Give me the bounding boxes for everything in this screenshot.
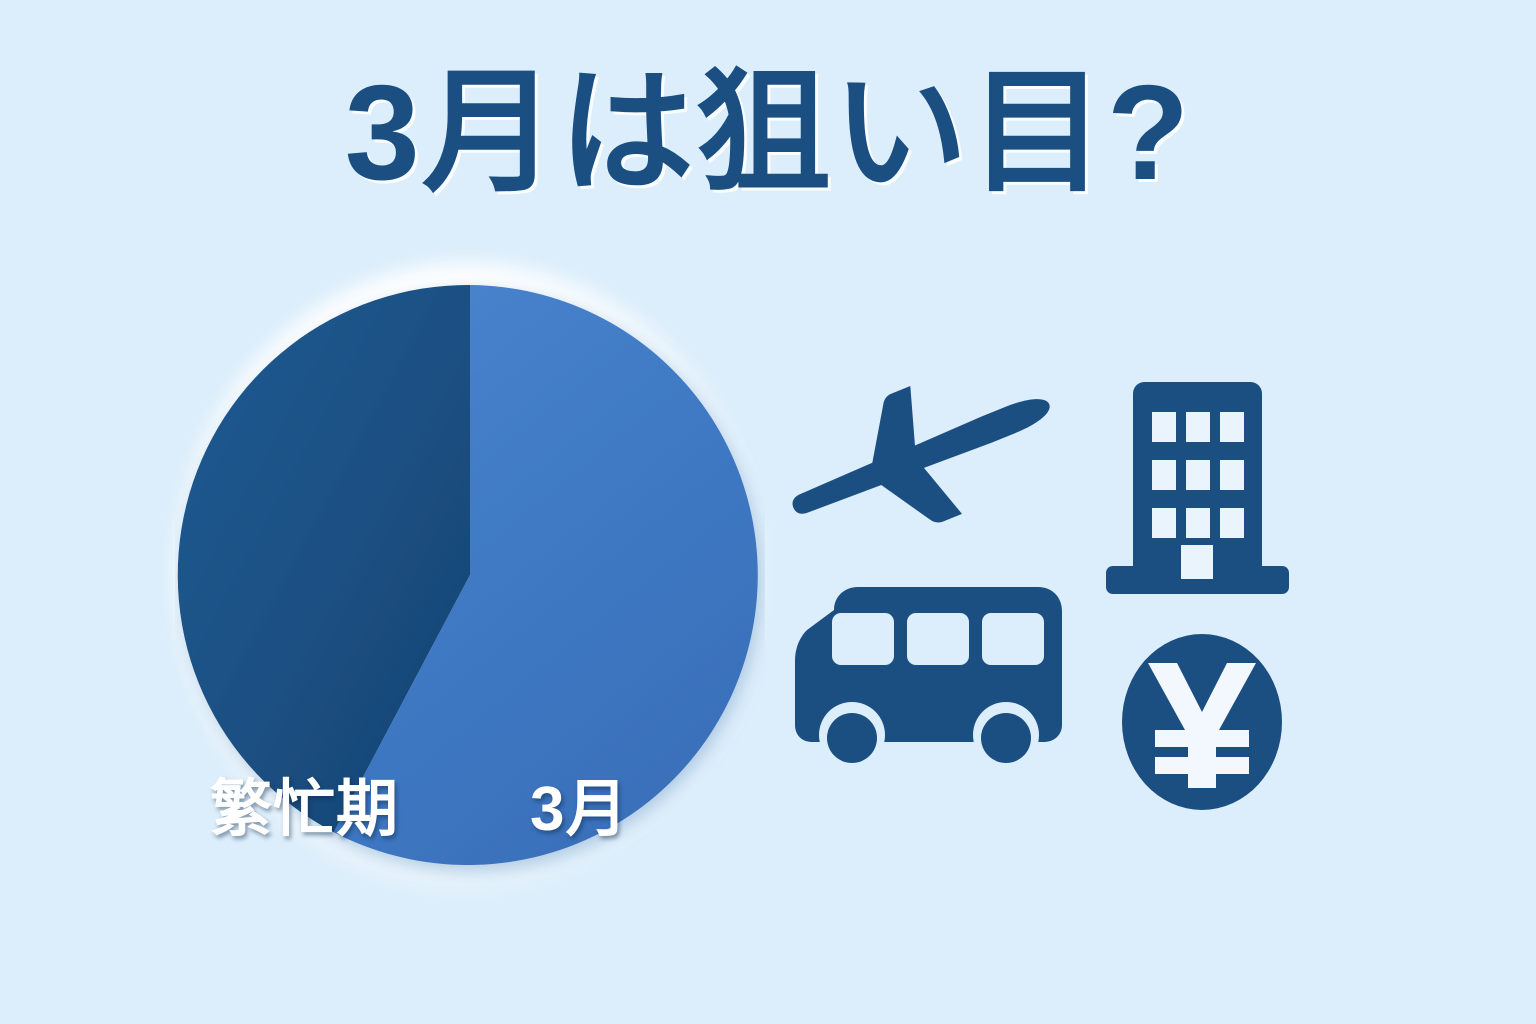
icon-cluster <box>760 340 1340 850</box>
airplane-icon <box>775 350 1065 550</box>
building-icon <box>1105 380 1290 600</box>
yen-coin-icon <box>1115 630 1290 815</box>
infographic-canvas: 3月は狙い目? <box>0 0 1536 1024</box>
bus-icon <box>790 575 1070 780</box>
pie-slice-label-march: 3月 <box>530 758 628 848</box>
page-title: 3月は狙い目? <box>0 62 1536 204</box>
pie-slice-label-busy: 繁忙期 <box>210 758 399 848</box>
pie-chart: 繁忙期 3月 <box>175 262 765 892</box>
